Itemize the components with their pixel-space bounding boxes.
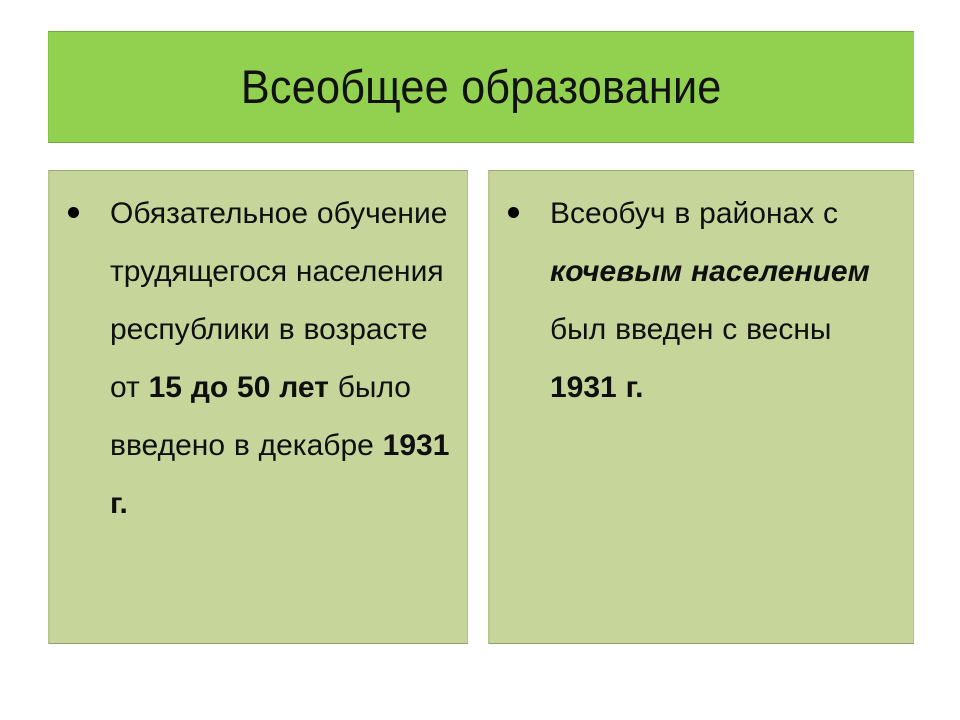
bullet-text-run-3: 1931 г. — [550, 371, 643, 404]
bullet-text-run-1: 15 до 50 лет — [149, 371, 329, 404]
bullet-item-left: Обязательное обучение трудящегося населе… — [62, 185, 453, 533]
content-columns: Обязательное обучение трудящегося населе… — [48, 170, 914, 644]
title-banner: Всеобщее образование — [48, 31, 914, 143]
bullet-text-run-2: был введен с весны — [550, 313, 832, 346]
bullet-dot-icon — [508, 207, 519, 218]
bullet-dot-icon — [68, 207, 79, 218]
content-box-left: Обязательное обучение трудящегося населе… — [48, 170, 468, 644]
bullet-item-right: Всеобуч в районах с кочевым населением б… — [502, 185, 899, 417]
slide-canvas: Всеобщее образование Обязательное обучен… — [0, 0, 960, 720]
bullet-text-run-0: Всеобуч в районах с — [550, 197, 838, 230]
page-title: Всеобщее образование — [241, 62, 722, 111]
content-box-right: Всеобуч в районах с кочевым населением б… — [488, 170, 914, 644]
bullet-text-run-1: кочевым населением — [550, 255, 870, 288]
